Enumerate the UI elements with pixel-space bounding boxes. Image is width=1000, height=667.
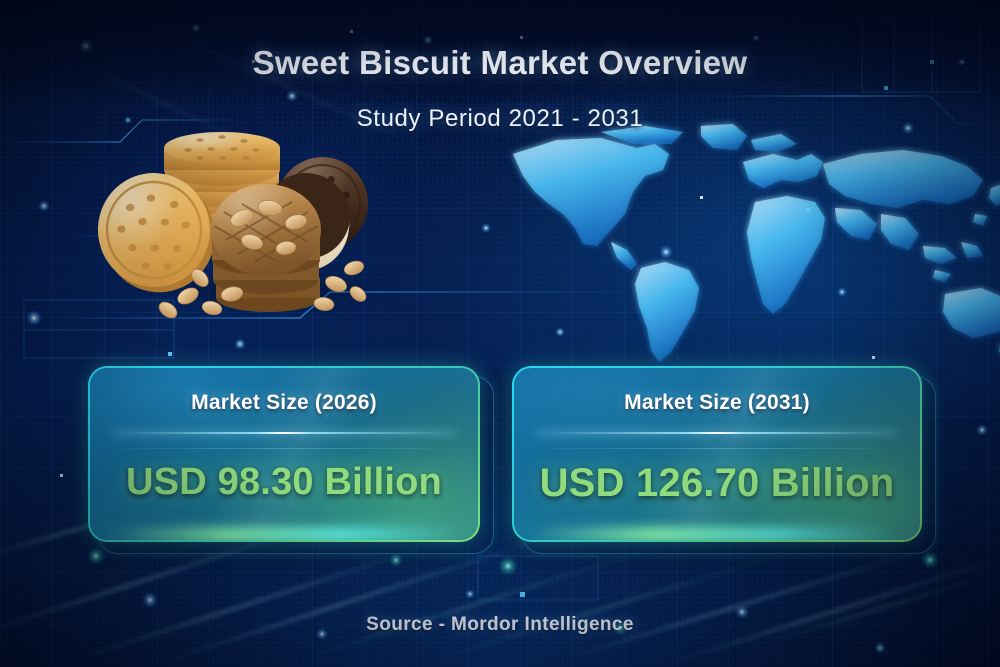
card-label: Market Size (2026)	[90, 391, 478, 415]
stat-cards-row: Market Size (2026) USD 98.30 Billion Mar…	[0, 0, 1000, 667]
card-bottom-glow	[530, 527, 904, 542]
stat-card-market-size-2026[interactable]: Market Size (2026) USD 98.30 Billion	[88, 366, 480, 542]
card-value: USD 98.30 Billion	[90, 461, 478, 504]
card-divider-secondary	[548, 448, 886, 449]
card-body: Market Size (2026) USD 98.30 Billion	[88, 366, 480, 542]
card-divider	[536, 432, 898, 434]
card-label: Market Size (2031)	[514, 391, 920, 415]
card-divider-secondary	[124, 448, 444, 449]
card-bottom-glow	[106, 527, 463, 542]
infographic-canvas: Sweet Biscuit Market Overview Study Peri…	[0, 0, 1000, 667]
source-attribution: Source - Mordor Intelligence	[0, 614, 1000, 636]
stat-card-market-size-2031[interactable]: Market Size (2031) USD 126.70 Billion	[512, 366, 922, 542]
card-value: USD 126.70 Billion	[514, 461, 920, 506]
card-divider	[112, 432, 456, 434]
card-body: Market Size (2031) USD 126.70 Billion	[512, 366, 922, 542]
